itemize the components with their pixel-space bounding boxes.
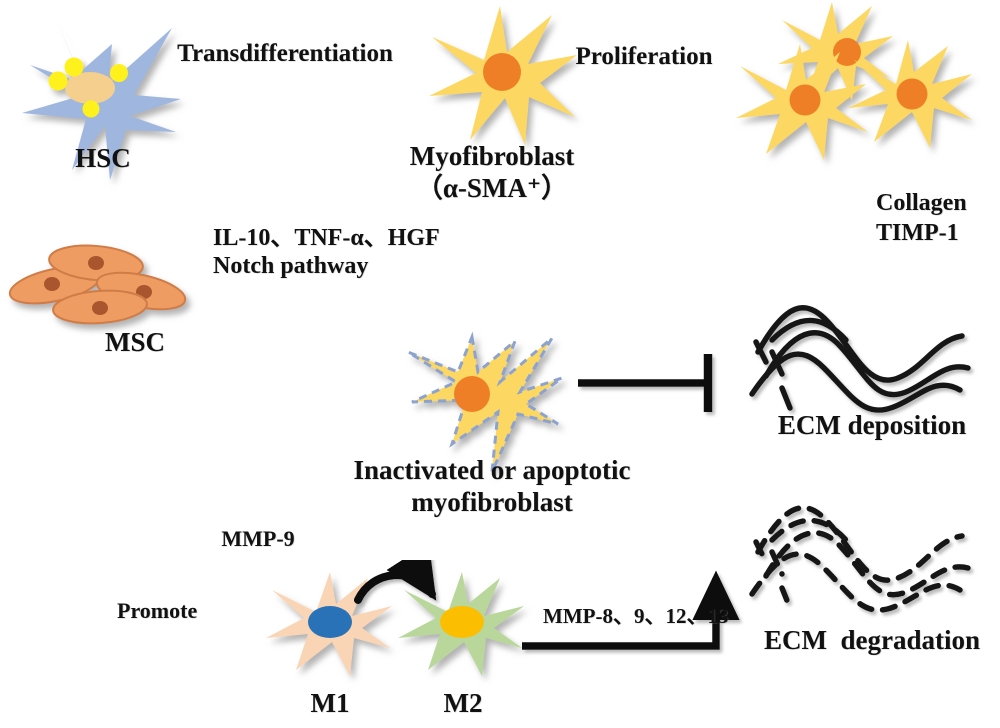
notch-pathway-label: Notch pathway (213, 253, 368, 280)
myofibroblast-cell-graphic (429, 6, 577, 145)
myofibroblast-label: Myofibroblast (410, 141, 575, 171)
m2-macrophage-graphic (398, 572, 524, 676)
ecm-degradation-label: ECM degradation (764, 625, 980, 655)
msc-cytokines-label: IL-10、TNF-α、HGF (213, 225, 440, 252)
hsc-label: HSC (75, 143, 131, 173)
collagen-label: Collagen (876, 190, 967, 217)
ecm-degradation-fibers (752, 508, 968, 610)
msc-cells-graphic (7, 242, 189, 326)
myofibroblast-marker-label: （α-SMA⁺） (416, 173, 568, 203)
timp1-label: TIMP-1 (876, 220, 959, 247)
transdifferentiation-label: Transdifferentiation (177, 40, 393, 68)
ecm-deposition-label: ECM deposition (778, 410, 966, 440)
mmp9-label: MMP-9 (221, 527, 294, 552)
inactivated-myofibroblast-label-line2: myofibroblast (411, 487, 573, 517)
mmp-series-label: MMP-8、9、12、13 (543, 605, 728, 629)
proliferated-myofibroblasts-graphic (736, 2, 972, 160)
proliferation-label: Proliferation (576, 43, 713, 71)
promote-label: Promote (117, 599, 197, 624)
inactivated-myofibroblast-label-line1: Inactivated or apoptotic (354, 455, 631, 485)
m1-label: M1 (311, 688, 350, 718)
ecm-deposition-fibers (752, 308, 968, 410)
inhibition-tbar (578, 354, 708, 412)
inactivated-myofibroblast-graphic (408, 337, 562, 472)
msc-label: MSC (105, 327, 165, 357)
m2-label: M2 (444, 688, 483, 718)
m1-to-m2-curved-arrow (358, 575, 432, 600)
diagram-canvas: HSC Transdifferentiation Myofibroblast （… (0, 0, 1000, 728)
m1-macrophage-graphic (266, 572, 392, 676)
